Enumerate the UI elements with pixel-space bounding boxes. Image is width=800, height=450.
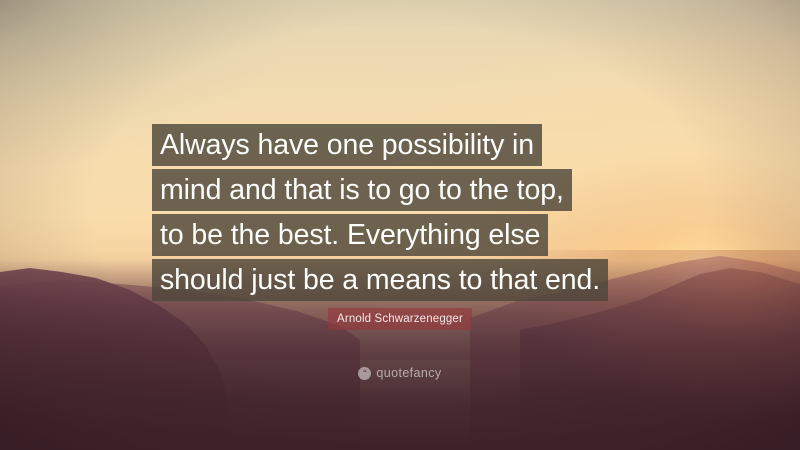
quote-line-text: to be the best. Everything else bbox=[152, 214, 548, 256]
attribution: Arnold Schwarzenegger bbox=[0, 308, 800, 330]
quote-line-text: mind and that is to go to the top, bbox=[152, 169, 572, 211]
quote-mark-icon: “ bbox=[358, 367, 371, 380]
author-name: Arnold Schwarzenegger bbox=[328, 308, 472, 330]
quote-line: mind and that is to go to the top, bbox=[152, 169, 672, 214]
quote-line: should just be a means to that end. bbox=[152, 259, 672, 304]
quote-line-text: should just be a means to that end. bbox=[152, 259, 608, 301]
quote-poster-canvas: Always have one possibility in mind and … bbox=[0, 0, 800, 450]
watermark: “ quotefancy bbox=[0, 366, 800, 380]
quote-line-text: Always have one possibility in bbox=[152, 124, 542, 166]
quote-line: to be the best. Everything else bbox=[152, 214, 672, 259]
quote-text-block: Always have one possibility in mind and … bbox=[152, 124, 672, 304]
quote-line: Always have one possibility in bbox=[152, 124, 672, 169]
watermark-brand: quotefancy bbox=[376, 366, 441, 380]
